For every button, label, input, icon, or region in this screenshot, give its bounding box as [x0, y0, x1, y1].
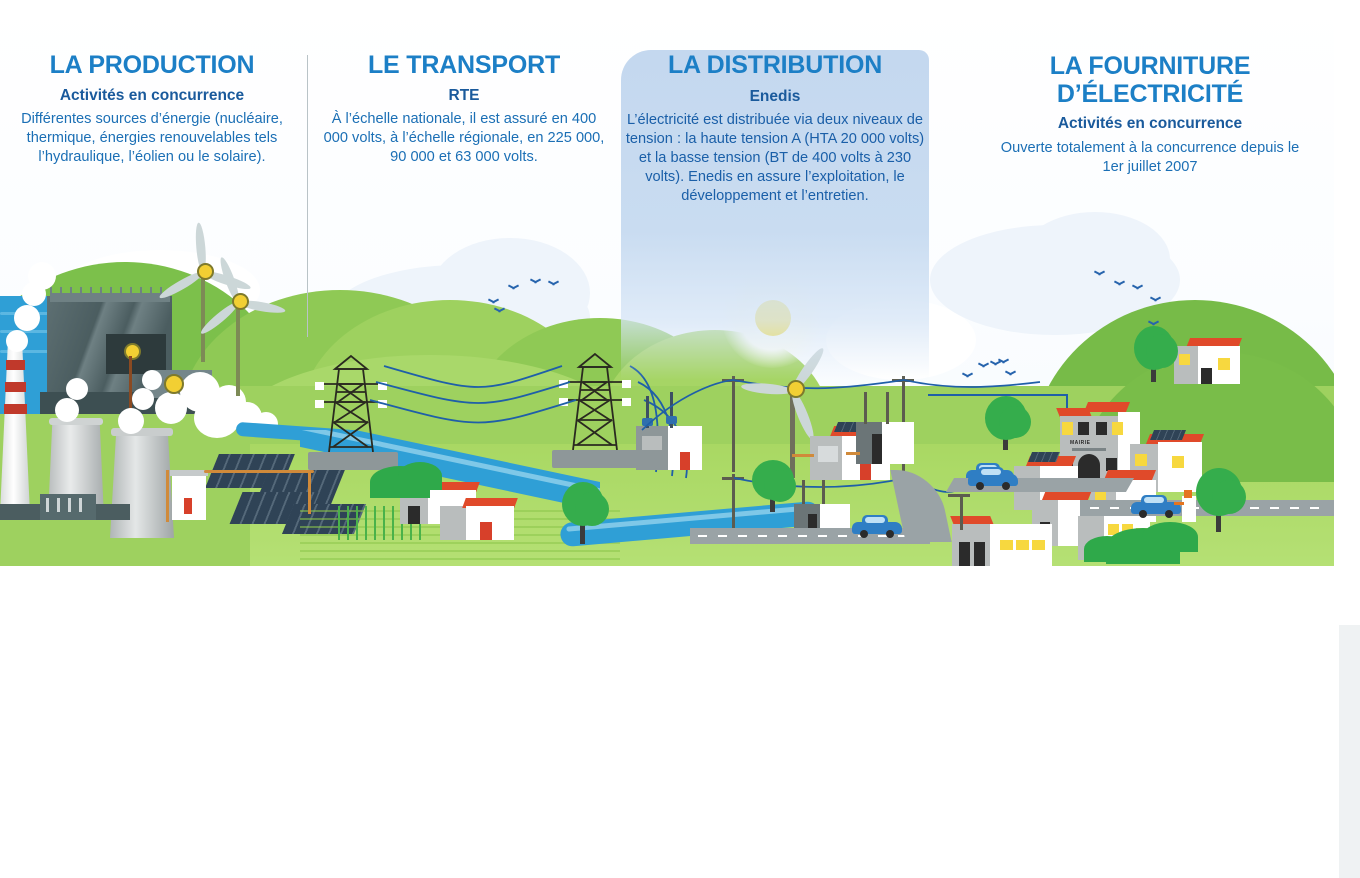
turbine-connector-icon	[164, 374, 184, 394]
bird-icon	[508, 286, 519, 292]
transport-body: À l’échelle nationale, il est assuré en …	[320, 110, 608, 167]
transport-title: LE TRANSPORT	[320, 52, 608, 80]
town-hall-window	[1096, 422, 1107, 435]
bird-icon	[1148, 322, 1159, 328]
header-columns: LA PRODUCTION Activités en concurrence D…	[0, 0, 1360, 260]
house-window	[1135, 454, 1147, 466]
substation-bushing	[864, 392, 867, 424]
charger-indicator	[1184, 490, 1192, 498]
steam-puff	[142, 370, 162, 390]
tree-foliage	[575, 492, 609, 526]
car-wheel	[1139, 510, 1147, 518]
steam-puff	[132, 388, 154, 410]
street-lamp-head	[948, 494, 970, 497]
house-window	[818, 446, 838, 462]
dam-crest	[50, 293, 170, 302]
wind-turbine	[208, 282, 278, 397]
house	[440, 492, 520, 540]
steam-puff	[66, 378, 88, 400]
solar-cable	[204, 470, 314, 473]
tree-foliage	[999, 406, 1031, 438]
column-production: LA PRODUCTION Activités en concurrence D…	[8, 52, 296, 167]
turbine-hub-icon	[197, 263, 214, 280]
substation-door	[872, 434, 882, 464]
house-door	[1201, 368, 1212, 384]
bird-icon	[548, 282, 559, 288]
bird-icon	[494, 309, 505, 315]
bird-icon	[488, 300, 499, 306]
house-window	[1218, 358, 1230, 370]
town-hall-balcony	[1072, 448, 1106, 451]
car	[968, 466, 1018, 488]
inverter-indicator	[184, 498, 192, 514]
building-window	[1000, 540, 1013, 550]
car	[1131, 494, 1181, 516]
bush	[1084, 536, 1130, 562]
plant-windows	[46, 498, 90, 512]
bird-icon	[1005, 372, 1016, 378]
column-fourniture: LA FOURNITURE D’ÉLECTRICITÉ Activités en…	[1000, 52, 1300, 177]
bird-icon	[990, 362, 1001, 368]
smoke-puff	[6, 330, 28, 352]
car-wheel	[1165, 510, 1173, 518]
car-wheel	[860, 530, 868, 538]
commercial-building	[952, 512, 1062, 566]
dam-railing	[50, 287, 170, 294]
house-wall	[440, 506, 468, 540]
town-hall-roof	[1084, 402, 1130, 412]
bird-icon	[978, 364, 989, 370]
car-wheel	[1002, 482, 1010, 490]
house-window	[1172, 456, 1184, 468]
turbine-mast	[236, 296, 240, 396]
substation-cabin	[882, 422, 914, 464]
car	[852, 514, 902, 536]
steam-puff	[194, 398, 240, 438]
bird-icon	[1132, 286, 1143, 292]
house	[1174, 336, 1244, 384]
substation-indicator	[680, 452, 690, 470]
power-line-group	[300, 350, 660, 480]
substation-window	[642, 436, 662, 450]
steam-puff	[55, 398, 79, 422]
column-transport: LE TRANSPORT RTE À l’échelle nationale, …	[320, 52, 608, 167]
house-door	[408, 506, 420, 524]
building-window	[1032, 540, 1045, 550]
inverter-cabin-roof	[170, 470, 208, 476]
tree-foliage	[1146, 334, 1178, 368]
substation-bushing	[886, 392, 889, 424]
bush	[398, 462, 442, 490]
smoke-puff	[14, 305, 40, 331]
substation-bushing	[802, 480, 805, 504]
building-wall	[952, 524, 992, 566]
town-hall-window	[1078, 422, 1089, 435]
smokestack-band	[4, 404, 27, 414]
charger-cable	[1174, 502, 1184, 505]
car-wheel	[976, 482, 984, 490]
street-lamp-pole	[960, 496, 963, 530]
car-wheel	[886, 530, 894, 538]
turbine-hub-icon	[232, 293, 249, 310]
bird-icon	[530, 280, 541, 286]
production-subtitle: Activités en concurrence	[8, 87, 296, 106]
steam-puff	[118, 408, 144, 434]
turbine-hub-icon	[787, 380, 805, 398]
substation-bushing	[822, 480, 825, 504]
smokestack-band	[5, 382, 26, 392]
column-distribution: LA DISTRIBUTION Enedis L’électricité est…	[625, 52, 925, 206]
smoke-puff	[28, 262, 56, 290]
house-window	[1179, 354, 1190, 365]
tree-foliage	[1212, 480, 1246, 514]
page-root: MAIRIE	[0, 0, 1360, 878]
production-title: LA PRODUCTION	[8, 52, 296, 80]
roof-solar-panel	[1028, 452, 1060, 462]
car-window	[865, 517, 885, 523]
smokestack-band	[6, 360, 25, 370]
bird-icon	[1094, 272, 1105, 278]
substation-service-cable	[846, 452, 860, 455]
building-door	[959, 542, 970, 566]
transformer-substation	[856, 412, 920, 464]
cooling-tower-rim	[49, 418, 103, 425]
distribution-body: L’électricité est distribuée via deux ni…	[625, 111, 925, 206]
turbine-mast	[201, 266, 205, 362]
house-service-cable	[792, 454, 814, 457]
building-window	[1016, 540, 1029, 550]
solar-cable	[166, 470, 169, 522]
car-window	[981, 469, 1001, 475]
house-door	[480, 522, 492, 540]
village-line-feed	[928, 394, 1068, 396]
bush	[1142, 522, 1198, 552]
bird-icon	[1114, 282, 1125, 288]
building-door	[974, 542, 985, 566]
town-hall-sign: MAIRIE	[1070, 440, 1091, 446]
fourniture-subtitle: Activités en concurrence	[1000, 115, 1300, 134]
production-body: Différentes sources d’énergie (nucléaire…	[8, 110, 296, 167]
fourniture-body: Ouverte totalement à la concurrence depu…	[1000, 139, 1300, 177]
bird-icon	[1150, 298, 1161, 304]
car-window	[1144, 497, 1164, 503]
town-hall-window	[1062, 422, 1073, 435]
tree-foliage	[764, 470, 796, 502]
bird-icon	[962, 374, 973, 380]
distribution-title: LA DISTRIBUTION	[625, 52, 925, 80]
town-hall-window	[1112, 422, 1123, 435]
scrollbar-track[interactable]	[1339, 625, 1360, 878]
charger-body	[1182, 496, 1196, 522]
fourniture-title: LA FOURNITURE D’ÉLECTRICITÉ	[1000, 52, 1300, 108]
transport-subtitle: RTE	[320, 87, 608, 106]
roof-solar-panel	[1150, 430, 1186, 440]
cooling-tower	[110, 428, 174, 538]
distribution-subtitle: Enedis	[625, 88, 925, 107]
dam-connector-icon	[124, 343, 141, 360]
